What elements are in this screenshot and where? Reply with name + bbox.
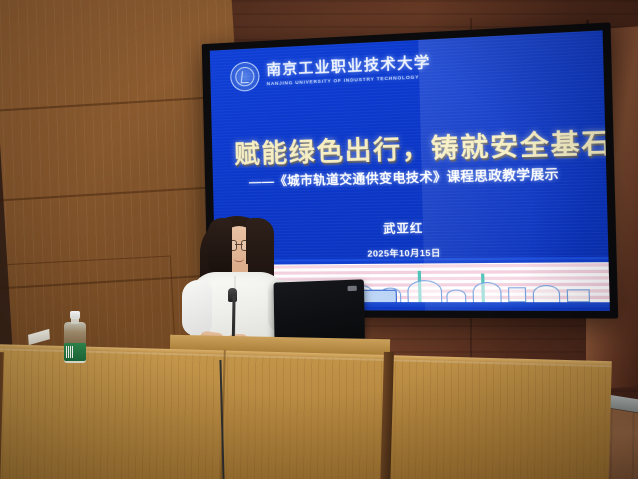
skyline-building — [380, 288, 402, 303]
lecture-hall-photo: 南京工业职业技术大学 NANJING UNIVERSITY OF INDUSTR… — [0, 0, 638, 479]
hair-strand-left — [208, 218, 232, 278]
skyline-building — [472, 282, 501, 302]
skyline-building — [508, 287, 526, 302]
water-bottle — [63, 311, 87, 363]
skyline-building — [567, 289, 590, 302]
university-name-en: NANJING UNIVERSITY OF INDUSTRY TECHNOLOG… — [267, 75, 432, 87]
university-branding: 南京工业职业技术大学 NANJING UNIVERSITY OF INDUSTR… — [230, 53, 431, 92]
skyline-spire — [481, 274, 485, 303]
screen-glare — [417, 30, 609, 311]
slide-subtitle: ——《城市轨道交通供变电技术》课程思政教学展示 — [249, 162, 610, 190]
skyline-building — [446, 290, 466, 303]
bottle-label — [64, 343, 86, 361]
sleeve-left — [182, 280, 212, 336]
skyline-building — [407, 280, 442, 302]
university-name-cn: 南京工业职业技术大学 — [266, 57, 431, 80]
presenter-laptop — [274, 279, 365, 343]
university-seal-icon — [230, 61, 260, 92]
university-name-block: 南京工业职业技术大学 NANJING UNIVERSITY OF INDUSTR… — [266, 57, 431, 87]
skyline-building — [533, 285, 561, 302]
skyline-spire — [418, 271, 422, 302]
stage-front-panel — [0, 348, 612, 479]
laptop-logo — [348, 286, 357, 291]
slide-title: 赋能绿色出行，铸就安全基石 — [234, 122, 589, 171]
